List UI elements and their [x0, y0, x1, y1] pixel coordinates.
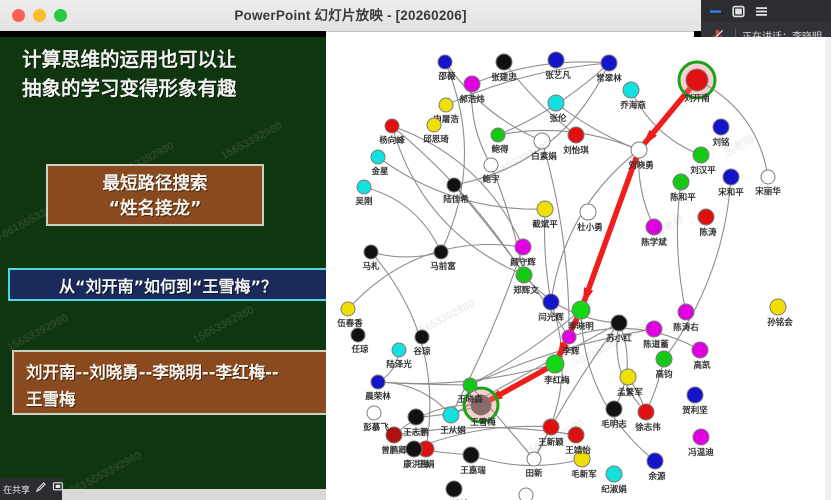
graph-node[interactable]	[443, 407, 459, 423]
graph-node[interactable]	[537, 201, 553, 217]
graph-node-label: 任琼	[350, 344, 369, 355]
graph-node[interactable]	[516, 267, 532, 283]
right-gutter	[825, 37, 831, 500]
name-chain-graph: 张建忠张艺凡常翠林乔海燕郝浩炜邵薇申屠浩张伦刘开南刘晓勇刘铭刘汉平宋和平陈和平宋…	[326, 37, 831, 500]
graph-node[interactable]	[463, 447, 479, 463]
graph-node[interactable]	[385, 119, 399, 133]
graph-node[interactable]	[656, 351, 672, 367]
graph-node-label: 康洪梅	[403, 459, 429, 470]
graph-node[interactable]	[392, 343, 406, 357]
watermark: 15653392980	[5, 312, 70, 354]
graph-node[interactable]	[496, 54, 512, 70]
graph-node[interactable]	[371, 150, 385, 164]
graph-node-label: 陈和平	[670, 192, 696, 203]
graph-node-label: 乔海燕	[619, 100, 646, 111]
graph-node[interactable]	[427, 118, 441, 132]
graph-node[interactable]	[371, 375, 385, 389]
graph-node-label: 陈涛右	[673, 322, 699, 333]
graph-node[interactable]	[686, 69, 708, 91]
graph-node[interactable]	[341, 302, 355, 316]
topic-line-2: “姓名接龙”	[48, 197, 262, 222]
graph-node[interactable]	[438, 55, 452, 69]
graph-node-label: 高钧	[655, 369, 673, 380]
graph-node-label: 伍春香	[336, 318, 363, 329]
meeting-window-controls[interactable]	[709, 5, 768, 18]
graph-node-label: 贺利坚	[681, 405, 708, 416]
graph-node-label: 李红梅	[543, 375, 570, 386]
graph-node-label: 郝浩炜	[459, 94, 485, 105]
answer-line-2: 王雪梅	[26, 386, 318, 413]
graph-node[interactable]	[770, 299, 786, 315]
graph-node-label: 张艺凡	[545, 70, 571, 81]
question-callout-box: 从“刘开南”如何到“王雪梅”？	[8, 268, 328, 301]
window-title: PowerPoint 幻灯片放映 - [20260206]	[0, 0, 701, 31]
graph-node[interactable]	[447, 178, 461, 192]
graph-node[interactable]	[673, 174, 689, 190]
graph-node[interactable]	[580, 204, 596, 220]
graph-node[interactable]	[562, 330, 576, 344]
graph-node[interactable]	[546, 355, 564, 373]
graph-node[interactable]	[364, 245, 378, 259]
graph-node-label: 余源	[647, 471, 666, 482]
graph-node-label: 田新	[525, 468, 543, 479]
minimize-icon[interactable]	[709, 5, 722, 18]
graph-node[interactable]	[519, 488, 533, 500]
graph-node-label: 毛新军	[571, 469, 597, 480]
screen-share-toolbar[interactable]: 在共享	[0, 478, 62, 500]
graph-node[interactable]	[687, 387, 703, 403]
graph-node-label: 冯温迪	[688, 447, 714, 458]
graph-node[interactable]	[543, 294, 559, 310]
graph-node[interactable]	[351, 328, 365, 342]
restore-window-icon[interactable]	[732, 5, 745, 18]
graph-node-label: 张伦	[549, 113, 567, 124]
graph-node[interactable]	[606, 401, 622, 417]
graph-node-label: 闫光辉	[538, 312, 564, 323]
graph-node-label: 截斌平	[532, 219, 558, 230]
graph-node-label: 毛明志	[601, 419, 627, 430]
graph-node-label: 鲍得	[491, 144, 509, 155]
graph-edge	[371, 252, 441, 257]
graph-node[interactable]	[406, 441, 422, 457]
graph-node-label: 刘怡琪	[563, 145, 589, 156]
share-status-label: 在共享	[3, 483, 30, 496]
graph-node-label: 刘晓勇	[628, 160, 654, 171]
graph-node-label: 彭慕飞	[363, 422, 389, 433]
topic-line-1: 最短路径搜索	[48, 172, 262, 197]
headline-line-2: 抽象的学习变得形象有趣	[22, 74, 312, 103]
graph-node[interactable]	[692, 342, 708, 358]
graph-node[interactable]	[548, 52, 564, 68]
graph-node[interactable]	[723, 169, 739, 185]
graph-node[interactable]	[568, 127, 584, 143]
graph-node-label: 谷琼	[412, 346, 431, 357]
graph-node-label: 陈道蓄	[643, 339, 669, 350]
graph-node[interactable]	[548, 95, 564, 111]
watermark: +8615653392980	[62, 450, 144, 489]
powerpoint-slideshow-window: PowerPoint 幻灯片放映 - [20260206]	[0, 0, 831, 500]
graph-node-label: 郑辉文	[513, 285, 539, 296]
graph-node-label: 金星	[370, 166, 389, 177]
graph-node-label: 杨向峰	[379, 135, 405, 146]
graph-node-label: 宋和平	[717, 187, 744, 198]
graph-node[interactable]	[515, 239, 531, 255]
graph-node-label: 张建忠	[491, 72, 517, 83]
graph-node[interactable]	[611, 315, 627, 331]
graph-node-label: 王靖怡	[565, 445, 591, 456]
graph-node-label: 刘汉平	[690, 165, 716, 176]
graph-node[interactable]	[647, 453, 663, 469]
question-text: 从“刘开南”如何到“王雪梅”？	[59, 273, 277, 297]
graph-node-label: 王晓森	[457, 394, 483, 405]
graph-node[interactable]	[572, 301, 590, 319]
graph-node-label: 王嘉瑞	[460, 465, 486, 476]
graph-node[interactable]	[408, 409, 424, 425]
graph-node-label: 颜守辉	[510, 257, 536, 268]
graph-node-label: 马前富	[430, 261, 456, 272]
graph-node-label: 陆佳希	[443, 194, 469, 205]
graph-node-label: 吴刚	[355, 196, 372, 207]
graph-node-label: 常翠林	[596, 73, 622, 84]
answer-line-1: 刘开南--刘晓勇--李晓明--李红梅--	[26, 359, 318, 386]
stop-share-icon[interactable]	[52, 480, 64, 498]
graph-node[interactable]	[693, 429, 709, 445]
graph-node-label: 陈涛	[699, 227, 717, 238]
graph-edge	[364, 187, 441, 252]
graph-node-label: 纪淑娟	[601, 484, 627, 495]
graph-node[interactable]	[623, 82, 639, 98]
graph-node-label: 高凯	[693, 360, 711, 371]
menu-icon[interactable]	[755, 5, 768, 18]
graph-node[interactable]	[464, 76, 480, 92]
graph-node-label: 曾鹏卿	[381, 445, 407, 456]
graph-node-label: 王志鹏	[403, 427, 429, 438]
graph-node-label: 邱思琦	[423, 134, 449, 145]
watermark: 15653392980	[191, 304, 256, 346]
slide-headline: 计算思维的运用也可以让 抽象的学习变得形象有趣	[22, 45, 312, 103]
pen-icon[interactable]	[35, 480, 47, 498]
topic-callout-box: 最短路径搜索 “姓名接龙”	[46, 164, 264, 226]
graph-node[interactable]	[446, 481, 462, 497]
graph-node[interactable]	[713, 119, 729, 135]
graph-node-label: 徐志伟	[634, 422, 661, 433]
watermark: 王老师	[721, 132, 757, 160]
graph-node[interactable]	[631, 142, 647, 158]
headline-line-1: 计算思维的运用也可以让	[22, 45, 312, 74]
graph-node-label: 王雪梅	[470, 417, 496, 428]
graph-node[interactable]	[761, 170, 775, 184]
graph-node-label: 王从娟	[440, 425, 466, 436]
graph-node[interactable]	[606, 466, 622, 482]
graph-node[interactable]	[638, 404, 654, 420]
graph-node[interactable]	[678, 304, 694, 320]
watermark: 王老师	[651, 212, 687, 240]
graph-node[interactable]	[693, 147, 709, 163]
graph-node[interactable]	[463, 378, 477, 392]
graph-node-label: 李晓明	[567, 321, 594, 332]
graph-node-label: 陈学斌	[641, 237, 667, 248]
window-title-bar: PowerPoint 幻灯片放映 - [20260206]	[0, 0, 701, 32]
answer-callout-box: 刘开南--刘晓勇--李晓明--李红梅-- 王雪梅	[12, 350, 330, 415]
graph-node-label: 邵薇	[437, 71, 456, 82]
graph-node-label: 孙铭会	[767, 317, 793, 328]
graph-node-label: 宋丽华	[754, 186, 781, 197]
graph-node[interactable]	[357, 180, 371, 194]
graph-node-label: 晨荣林	[365, 391, 391, 402]
graph-node-label: 刘开南	[684, 93, 710, 104]
graph-node[interactable]	[698, 209, 714, 225]
graph-node-label: 杜小勇	[577, 222, 603, 233]
watermark: 15653392980	[412, 297, 477, 339]
graph-node[interactable]	[601, 55, 617, 71]
graph-canvas: 张建忠张艺凡常翠林乔海燕郝浩炜邵薇申屠浩张伦刘开南刘晓勇刘铭刘汉平宋和平陈和平宋…	[326, 37, 831, 500]
graph-node-label: 马札	[362, 261, 380, 272]
slide-content-area: 15653392980 15653392980 +8615653392980 +…	[0, 37, 326, 489]
graph-node[interactable]	[434, 245, 448, 259]
graph-node[interactable]	[491, 128, 505, 142]
graph-node-label: 孟繁军	[617, 387, 643, 398]
graph-node[interactable]	[620, 369, 636, 385]
graph-node[interactable]	[439, 98, 453, 112]
graph-node-label: 陆泽光	[386, 359, 412, 370]
watermark: 15653392980	[219, 120, 284, 162]
graph-node[interactable]	[367, 406, 381, 420]
